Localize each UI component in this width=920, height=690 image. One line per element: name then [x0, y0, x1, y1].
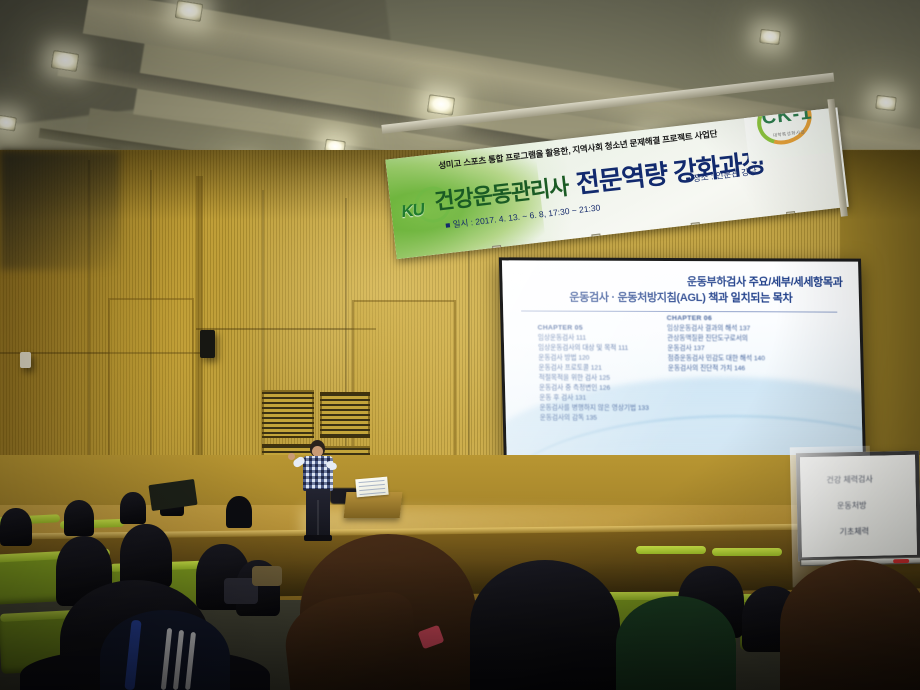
- wall-plate-icon: [20, 352, 31, 368]
- wall-door-panel: [352, 300, 456, 465]
- wall-pilaster: [196, 176, 203, 476]
- foreground-shadow: [0, 560, 920, 690]
- ceiling-downlight-icon: [175, 0, 203, 22]
- whiteboard: 건강 체력검사 운동처방 기초체력: [796, 451, 920, 562]
- hvac-vent-icon: [262, 390, 314, 438]
- corner-shadow: [0, 150, 120, 270]
- wall-panel-line: [196, 328, 376, 330]
- ceiling-downlight-icon: [875, 95, 897, 111]
- university-logo: KU: [401, 200, 424, 223]
- ceiling-downlight-icon: [0, 115, 17, 132]
- ceiling-downlight-icon: [759, 29, 781, 45]
- handout-papers: [355, 477, 388, 498]
- ceiling-downlight-icon: [51, 50, 79, 72]
- wall-speaker-icon: [200, 330, 215, 358]
- auditorium-photo: KU 성미고 스포츠 통합 프로그램을 활용한, 지역사회 청소년 문제해결 프…: [0, 0, 920, 690]
- presenter-leg-split: [317, 500, 319, 537]
- ceiling-downlight-icon: [427, 94, 455, 115]
- presenter-shoes: [304, 535, 332, 541]
- hvac-vent-icon: [320, 392, 370, 438]
- presenter-hand-left: [288, 453, 295, 460]
